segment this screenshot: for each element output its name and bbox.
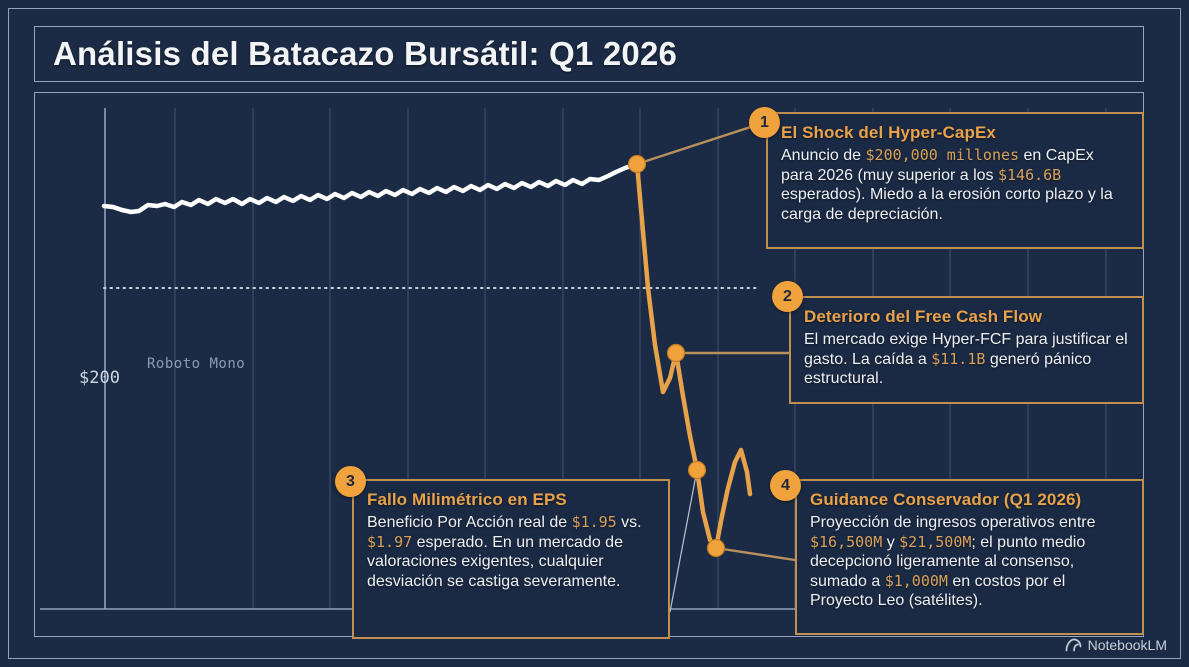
notebooklm-watermark: NotebookLM	[1065, 637, 1167, 653]
annotation-badge-2[interactable]: 2	[772, 281, 803, 312]
page-title: Análisis del Batacazo Bursátil: Q1 2026	[35, 35, 677, 73]
series-line	[104, 164, 637, 212]
annotation-title-2: Deterioro del Free Cash Flow	[804, 307, 1129, 327]
annotation-title-4: Guidance Conservador (Q1 2026)	[810, 490, 1129, 510]
notebooklm-arc-icon	[1065, 638, 1082, 652]
data-point-marker	[629, 156, 646, 173]
annotation-badge-3[interactable]: 3	[335, 466, 366, 497]
notebooklm-label: NotebookLM	[1088, 637, 1167, 653]
annotation-body-3: Beneficio Por Acción real de $1.95 vs. $…	[367, 513, 655, 591]
infographic-root: Análisis del Batacazo Bursátil: Q1 2026 …	[0, 0, 1189, 667]
annotation-body-2: El mercado exige Hyper-FCF para justific…	[804, 330, 1129, 389]
annotation-title-3: Fallo Milimétrico en EPS	[367, 490, 655, 510]
annotation-connector	[716, 548, 795, 560]
annotation-card-3[interactable]: Fallo Milimétrico en EPS Beneficio Por A…	[352, 479, 670, 639]
annotation-badge-4[interactable]: 4	[770, 470, 801, 501]
annotation-card-1[interactable]: El Shock del Hyper-CapEx Anuncio de $200…	[766, 112, 1144, 249]
data-point-marker	[708, 540, 725, 557]
y-axis-tick-label: $200	[79, 368, 120, 388]
annotation-body-4: Proyección de ingresos operativos entre …	[810, 513, 1129, 611]
data-point-marker	[689, 462, 706, 479]
annotation-body-1: Anuncio de $200,000 millones en CapEx pa…	[781, 146, 1129, 224]
font-name-watermark: Roboto Mono	[147, 356, 245, 372]
annotation-connector	[670, 470, 697, 612]
annotation-connector	[637, 122, 766, 164]
annotation-card-2[interactable]: Deterioro del Free Cash Flow El mercado …	[789, 296, 1144, 404]
data-point-marker	[668, 345, 685, 362]
annotation-card-4[interactable]: Guidance Conservador (Q1 2026) Proyecció…	[795, 479, 1144, 635]
annotation-badge-1[interactable]: 1	[749, 107, 780, 138]
annotation-title-1: El Shock del Hyper-CapEx	[781, 123, 1129, 143]
title-frame: Análisis del Batacazo Bursátil: Q1 2026	[34, 26, 1144, 82]
